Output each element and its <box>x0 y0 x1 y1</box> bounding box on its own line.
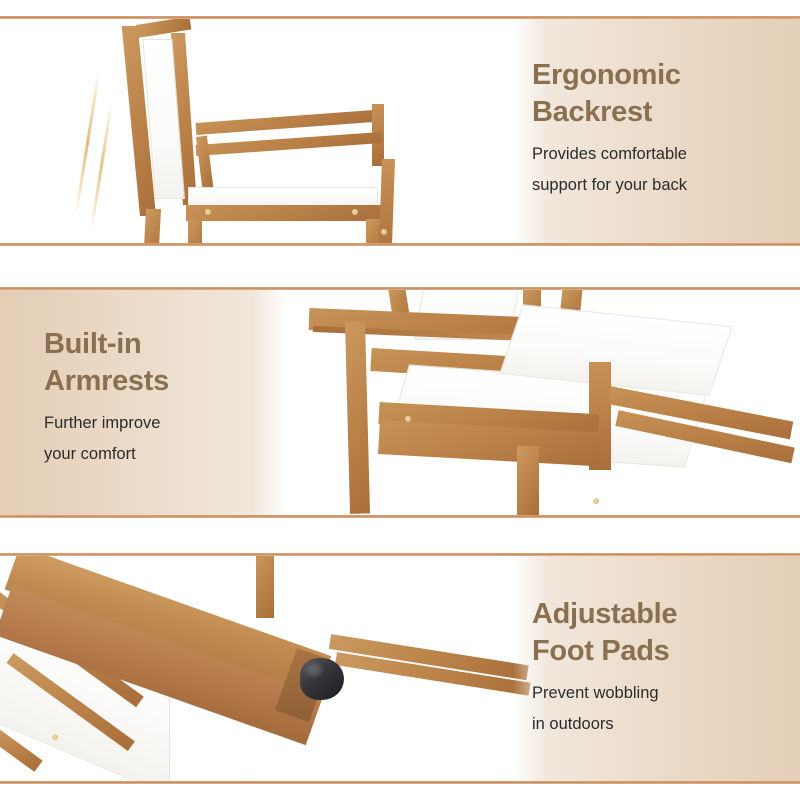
panel-ergonomic-backrest: Ergonomic Backrest Provides comfortable … <box>0 19 800 243</box>
photo-foot-pad-closeup <box>0 556 513 781</box>
panel-1-heading-line-1: Ergonomic <box>532 57 772 94</box>
panel-adjustable-foot-pads: Adjustable Foot Pads Prevent wobbling in… <box>0 556 800 781</box>
infographic-sheet: Ergonomic Backrest Provides comfortable … <box>0 0 800 800</box>
panel-2-body-line-2: your comfort <box>44 441 284 468</box>
panel-1-body-line-1: Provides comfortable <box>532 141 772 168</box>
divider-panel-2-bottom <box>0 515 800 518</box>
photo-chair-side-view <box>0 19 513 243</box>
panel-2-heading-line-1: Built-in <box>44 326 284 363</box>
copy-block-ergonomic-backrest: Ergonomic Backrest Provides comfortable … <box>532 57 772 199</box>
panel-3-body-line-2: in outdoors <box>532 711 772 738</box>
panel-1-heading-line-2: Backrest <box>532 94 772 131</box>
photo-armrest-closeup <box>287 290 800 515</box>
panel-3-heading-line-2: Foot Pads <box>532 633 772 670</box>
panel-2-heading-line-2: Armrests <box>44 363 284 400</box>
panel-1-body-line-2: support for your back <box>532 172 772 199</box>
divider-panel-1-bottom <box>0 243 800 246</box>
panel-2-body-line-1: Further improve <box>44 410 284 437</box>
panel-3-body-line-1: Prevent wobbling <box>532 680 772 707</box>
panel-built-in-armrests: Built-in Armrests Further improve your c… <box>0 290 800 515</box>
copy-block-built-in-armrests: Built-in Armrests Further improve your c… <box>44 326 284 468</box>
panel-3-heading-line-1: Adjustable <box>532 596 772 633</box>
divider-bottom <box>0 781 800 784</box>
copy-block-adjustable-foot-pads: Adjustable Foot Pads Prevent wobbling in… <box>532 596 772 738</box>
